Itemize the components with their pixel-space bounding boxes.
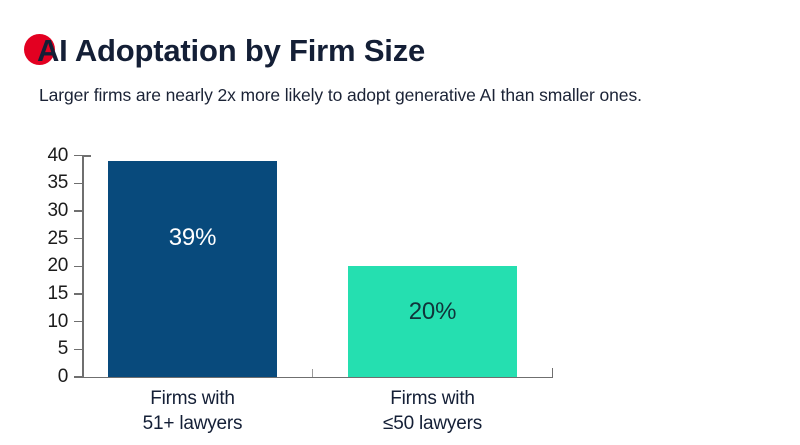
x-axis-category-label: Firms with51+ lawyers (68, 386, 317, 436)
y-axis-tick (74, 266, 83, 267)
y-axis-top-cap (82, 155, 91, 157)
y-axis-tick-label: 10 (8, 312, 68, 331)
bar-value-label: 20% (348, 300, 517, 324)
bar-value-label: 39% (108, 226, 277, 250)
y-axis-tick-label: 30 (8, 201, 68, 220)
y-axis-tick (74, 155, 83, 156)
y-axis-tick (74, 293, 83, 294)
page-title: AI Adoptation by Firm Size (37, 28, 425, 74)
chart-page: AI Adoptation by Firm Size Larger firms … (0, 0, 800, 445)
y-axis-tick (74, 210, 83, 211)
x-axis-mid-tick (312, 369, 313, 377)
y-axis-tick (74, 183, 83, 184)
y-axis-tick-label: 0 (8, 367, 68, 386)
bar[interactable]: 39% (108, 161, 277, 377)
x-axis-category-label: Firms with≤50 lawyers (308, 386, 557, 436)
y-axis-tick-label: 40 (8, 146, 68, 165)
y-axis-tick-label: 20 (8, 256, 68, 275)
x-axis-right-cap (552, 368, 554, 377)
y-axis-tick-label: 25 (8, 229, 68, 248)
y-axis-tick (74, 349, 83, 350)
x-axis-category-line: Firms with (68, 386, 317, 411)
y-axis-tick (74, 376, 83, 377)
y-axis-tick-label: 15 (8, 284, 68, 303)
x-axis-category-line: 51+ lawyers (68, 411, 317, 436)
title-row: AI Adoptation by Firm Size (24, 28, 425, 74)
x-axis-category-line: Firms with (308, 386, 557, 411)
y-axis-tick (74, 321, 83, 322)
x-axis-category-line: ≤50 lawyers (308, 411, 557, 436)
y-axis-tick-label: 5 (8, 339, 68, 358)
y-axis-tick-label: 35 (8, 173, 68, 192)
bar[interactable]: 20% (348, 266, 517, 377)
y-axis-tick (74, 238, 83, 239)
